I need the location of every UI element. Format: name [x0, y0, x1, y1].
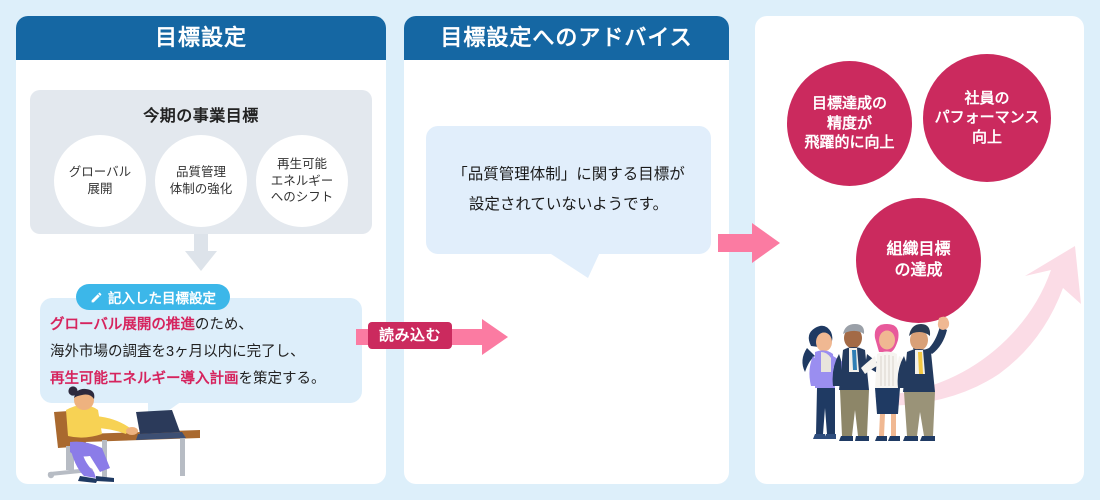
result-circle-label: 社員の パフォーマンス 向上 [935, 89, 1040, 148]
advice-bubble: 「品質管理体制」に関する目標が 設定されていないようです。 [426, 126, 711, 254]
goal-circle-label: 品質管理 体制の強化 [170, 164, 233, 198]
result-circle-label: 目標達成の 精度が 飛躍的に向上 [804, 94, 894, 153]
person-at-desk-illustration [40, 386, 220, 484]
plain-text: 海外市場の調査を3ヶ月以内に完了し、 [50, 344, 305, 360]
goal-circle-energy: 再生可能 エネルギー へのシフト [256, 135, 348, 227]
goal-circle-global: グローバル 展開 [54, 135, 146, 227]
panel-goal-header: 目標設定 [16, 16, 386, 60]
written-goal-line: グローバル展開の推進のため、 [50, 312, 360, 339]
written-goal-line: 海外市場の調査を3ヶ月以内に完了し、 [50, 339, 360, 366]
goal-circle-label: 再生可能 エネルギー へのシフト [271, 156, 334, 207]
read-badge: 読み込む [368, 322, 452, 349]
plain-text: を策定する。 [239, 371, 326, 387]
goal-circle-list: グローバル 展開 品質管理 体制の強化 再生可能 エネルギー へのシフト [30, 135, 372, 227]
goal-circle-quality: 品質管理 体制の強化 [155, 135, 247, 227]
written-goal-badge-label: 記入した目標設定 [108, 287, 216, 307]
written-goal-text: グローバル展開の推進のため、 海外市場の調査を3ヶ月以内に完了し、 再生可能エネ… [50, 312, 360, 393]
plain-text: のため、 [195, 317, 253, 333]
bubble-tail [548, 252, 600, 278]
result-circle-accuracy: 目標達成の 精度が 飛躍的に向上 [787, 61, 912, 186]
current-term-goal-box: 今期の事業目標 グローバル 展開 品質管理 体制の強化 再生可能 エネルギー へ… [30, 90, 372, 234]
panel-result: 目標達成の 精度が 飛躍的に向上 社員の パフォーマンス 向上 組織目標 の達成 [755, 16, 1084, 484]
goal-box-title: 今期の事業目標 [30, 90, 372, 126]
highlight-text: 再生可能エネルギー導入計画 [50, 371, 239, 387]
panel-advice-header: 目標設定へのアドバイス [404, 16, 729, 60]
advice-text: 「品質管理体制」に関する目標が 設定されていないようです。 [452, 160, 685, 220]
written-goal-badge: 記入した目標設定 [76, 284, 230, 310]
result-circle-org-goal: 組織目標 の達成 [856, 198, 981, 323]
advice-line: 設定されていないようです。 [452, 190, 685, 220]
business-team-illustration [791, 316, 966, 456]
highlight-text: グローバル展開の推進 [50, 317, 195, 333]
advice-line: 「品質管理体制」に関する目標が [452, 160, 685, 190]
goal-circle-label: グローバル 展開 [69, 164, 131, 198]
infographic-stage: 目標設定 今期の事業目標 グローバル 展開 品質管理 体制の強化 再生可能 エネ… [0, 0, 1100, 500]
panel-advice: 目標設定へのアドバイス 「品質管理体制」に関する目標が 設定されていないようです… [404, 16, 729, 484]
pencil-icon [90, 291, 103, 304]
result-circle-performance: 社員の パフォーマンス 向上 [923, 54, 1051, 182]
result-circle-label: 組織目標 の達成 [886, 240, 950, 282]
panel-goal-setting: 目標設定 今期の事業目標 グローバル 展開 品質管理 体制の強化 再生可能 エネ… [16, 16, 386, 484]
